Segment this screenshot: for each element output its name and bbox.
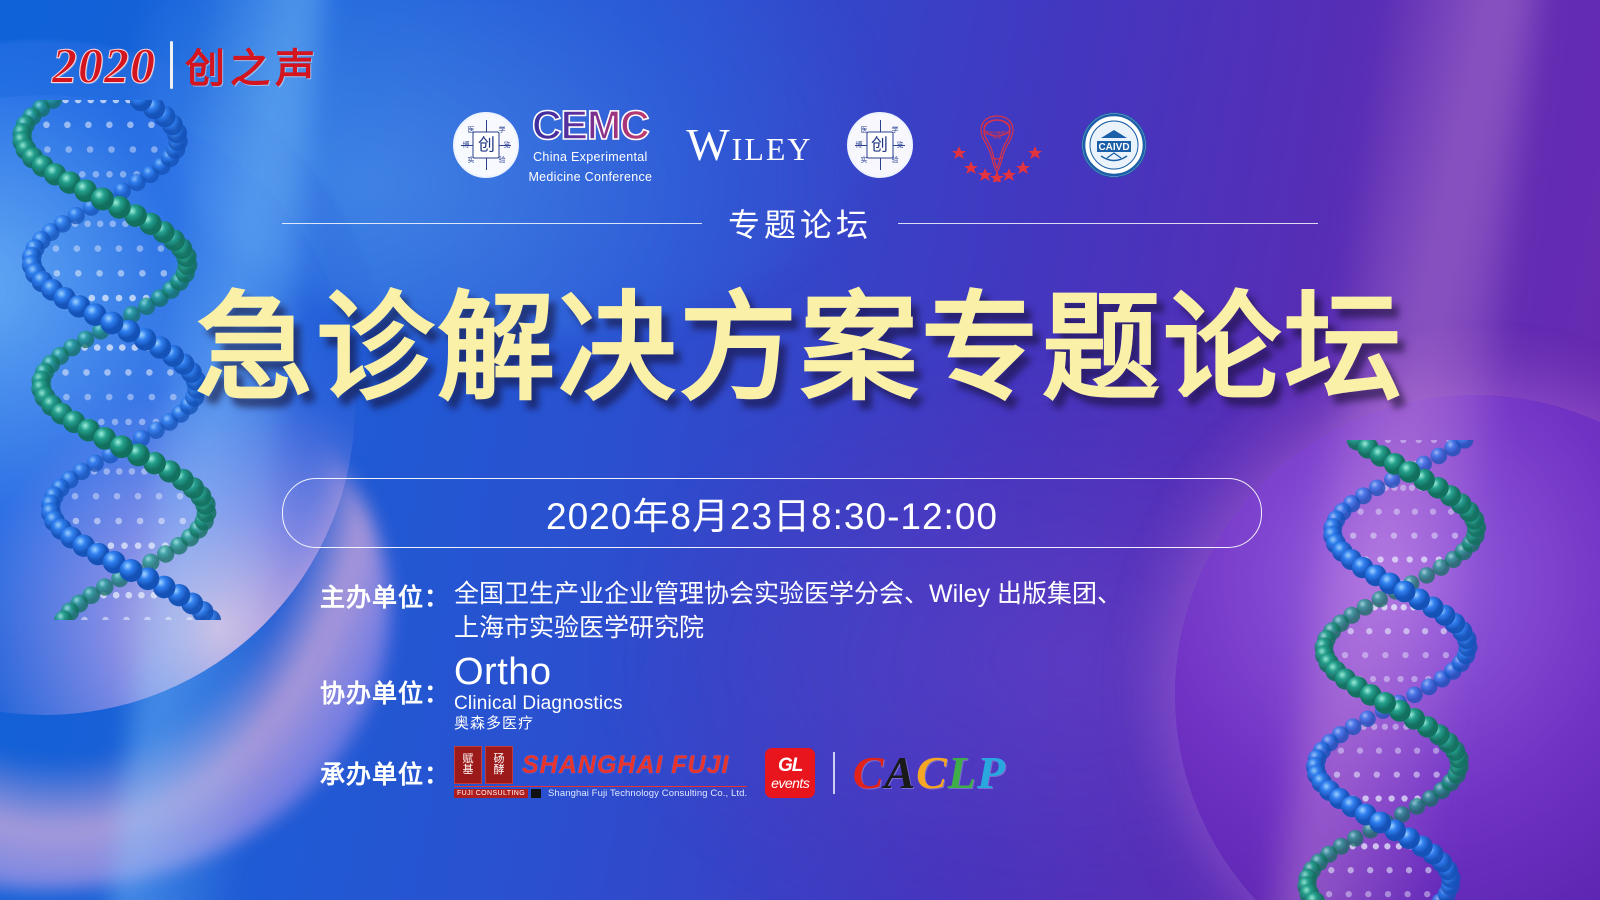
svg-text:PCIH: PCIH	[992, 136, 1001, 140]
fuji-seal-square-1: 赋 基	[454, 746, 482, 784]
host-logo-separator	[833, 752, 835, 794]
fuji-black-tag	[531, 789, 541, 798]
organizer-row: 主办单位： 全国卫生产业企业管理协会实验医学分会、Wiley 出版集团、 上海市…	[300, 578, 1320, 646]
wiley-logo: Wiley	[686, 122, 812, 168]
host-row: 承办单位： 赋 基 砀 酵 SHANGHAI FUJI	[300, 746, 1320, 799]
divider-rule-left	[282, 223, 702, 224]
conference-banner: 2020 创之声 医 学 博 览 实 验 创 CEMC China Experi…	[0, 0, 1600, 900]
gl-events-top: GL	[778, 756, 802, 775]
caclp-letter-0: C	[853, 750, 885, 796]
host-label: 承办单位：	[300, 755, 454, 791]
organizer-label: 主办单位：	[300, 578, 454, 614]
caclp-logo: CACLP	[853, 750, 1006, 796]
cemc-subtitle-line1: China Experimental	[533, 150, 647, 166]
svg-text:中国医疗器械行业: 中国医疗器械行业	[982, 130, 1011, 135]
fuji-company-caption: Shanghai Fuji Technology Consulting Co.,…	[544, 788, 747, 799]
organizer-value: 全国卫生产业企业管理协会实验医学分会、Wiley 出版集团、 上海市实验医学研究…	[454, 578, 1122, 646]
coorganizer-label: 协办单位：	[300, 674, 454, 710]
event-date-text: 2020年8月23日8:30-12:00	[546, 486, 998, 540]
coorganizer-row: 协办单位： Ortho Clinical Diagnostics 奥森多医疗	[300, 652, 1320, 733]
sponsor-logo-row: 医 学 博 览 实 验 创 CEMC China Experimental Me…	[0, 103, 1600, 187]
fuji-wordmark: SHANGHAI FUJI	[516, 746, 729, 784]
shanghai-fuji-logo: 赋 基 砀 酵 SHANGHAI FUJI FUJI CONSULTING Sh…	[454, 746, 747, 799]
page-title: 急诊解决方案专题论坛	[0, 288, 1600, 412]
seal-quadrant-label: 博	[462, 140, 469, 150]
gl-events-bottom: events	[771, 776, 809, 790]
brand-divider	[170, 41, 173, 89]
caivd-abbr: CAIVD	[1098, 142, 1129, 153]
cemc-acronym: CEMC	[532, 105, 649, 146]
forum-label: 专题论坛	[728, 200, 872, 246]
seal-center-char: 创	[473, 132, 500, 159]
brand-year: 2020	[52, 36, 156, 94]
ortho-tagline: Clinical Diagnostics	[454, 694, 623, 715]
caclp-letter-3: L	[948, 750, 977, 796]
brand-2020-logo: 2020 创之声	[52, 34, 320, 96]
event-date-pill: 2020年8月23日8:30-12:00	[282, 478, 1262, 548]
organizer-line2: 上海市实验医学研究院	[454, 612, 1122, 646]
gl-events-logo: GL events	[765, 748, 815, 798]
seal-center-char: 创	[866, 132, 893, 159]
divider-rule-right	[898, 223, 1318, 224]
fuji-logo-bottom: FUJI CONSULTING Shanghai Fuji Technology…	[454, 786, 747, 799]
caclp-letter-2: C	[916, 750, 948, 796]
caivd-logo-icon: CAIVD	[1081, 112, 1147, 178]
caclp-letter-1: A	[884, 750, 916, 796]
fuji-logo-top: 赋 基 砀 酵 SHANGHAI FUJI	[454, 746, 747, 784]
ortho-chinese-name: 奥森多医疗	[454, 716, 623, 732]
host-logo-group: 赋 基 砀 酵 SHANGHAI FUJI FUJI CONSULTING Sh…	[454, 746, 1006, 799]
cemc-logo: 医 学 博 览 实 验 创 CEMC China Experimental Me…	[453, 105, 652, 185]
experimental-medicine-seal-icon: 医 学 博 览 实 验 创	[847, 112, 913, 178]
ortho-logo: Ortho Clinical Diagnostics 奥森多医疗	[454, 652, 623, 733]
fuji-char-4: 酵	[486, 765, 512, 777]
fuji-consulting-tag: FUJI CONSULTING	[454, 789, 528, 798]
credits-block: 主办单位： 全国卫生产业企业管理协会实验医学分会、Wiley 出版集团、 上海市…	[300, 578, 1320, 801]
cemc-subtitle-line2: Medicine Conference	[528, 170, 652, 186]
seal-quadrant-label: 览	[897, 140, 904, 150]
fuji-char-2: 基	[455, 765, 481, 777]
forum-divider: 专题论坛	[0, 200, 1600, 246]
ortho-wordmark: Ortho	[454, 652, 623, 693]
fuji-seal-square-2: 砀 酵	[485, 746, 513, 784]
organizer-line1: 全国卫生产业企业管理协会实验医学分会、Wiley 出版集团、	[454, 580, 1122, 608]
cemc-wordmark: CEMC China Experimental Medicine Confere…	[528, 105, 652, 185]
seal-quadrant-label: 览	[503, 140, 510, 150]
seal-quadrant-label: 博	[856, 140, 863, 150]
caclp-letter-4: P	[977, 750, 1006, 796]
brand-chinese-name: 创之声	[185, 36, 320, 94]
cemc-seal-icon: 医 学 博 览 实 验 创	[453, 112, 519, 178]
pcih-star-logo-icon: 中国医疗器械行业 PCIH	[947, 108, 1047, 182]
